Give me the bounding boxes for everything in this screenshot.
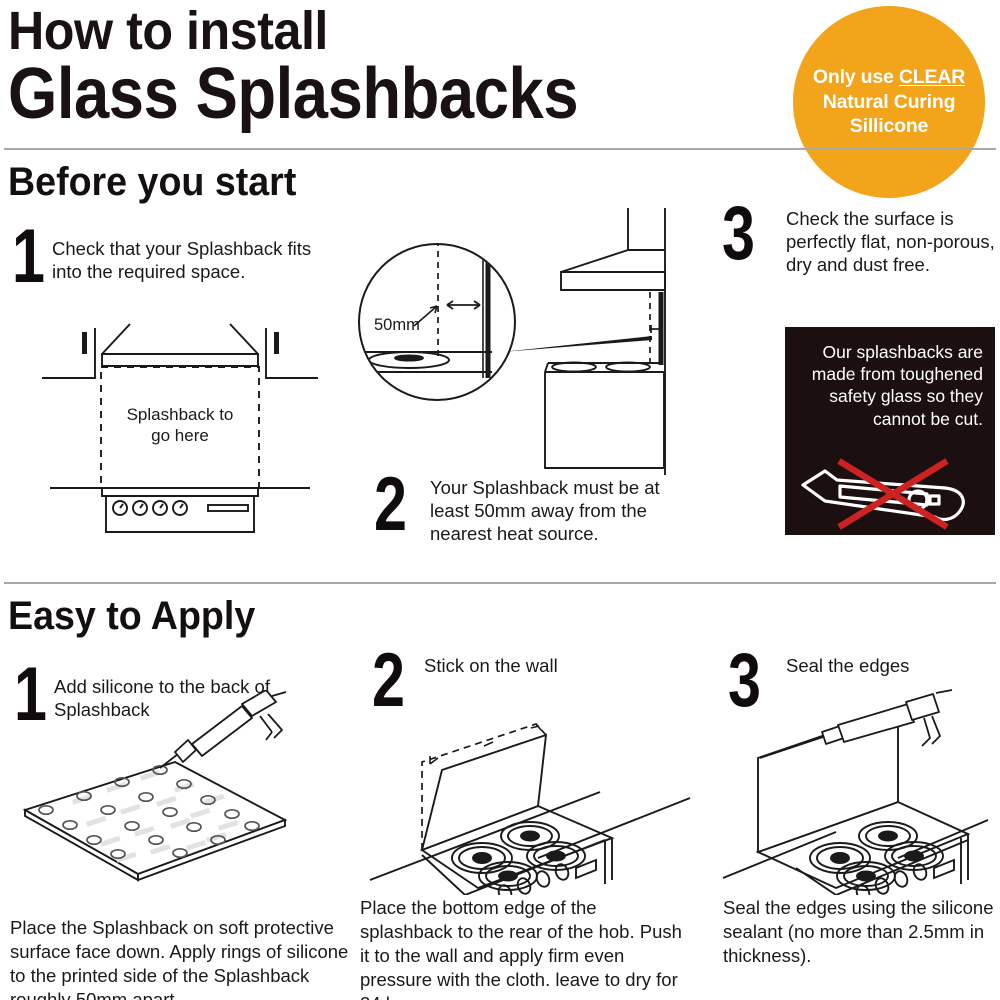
divider-top (4, 148, 996, 150)
step-number-before-2: 2 (374, 474, 407, 536)
badge-line-2: Natural Curing (823, 91, 956, 113)
diagram-50mm-clearance: 50mm (352, 200, 702, 475)
diagram-splashback-space: Splashback to go here (40, 320, 320, 550)
diagram-seal-the-edges (718, 680, 1000, 895)
caption-apply-2: Place the bottom edge of the splashback … (360, 896, 690, 1000)
diagram-stick-on-wall (360, 680, 700, 895)
section-heading-easy-to-apply: Easy to Apply (8, 596, 255, 636)
step-text-before-2: Your Splashback must be at least 50mm aw… (430, 477, 692, 546)
step-number-before-1: 1 (12, 226, 45, 288)
badge-line-1-emphasis: CLEAR (899, 66, 965, 88)
step-text-before-1: Check that your Splashback fits into the… (52, 238, 314, 284)
warning-box-text: Our splashbacks are made from toughened … (797, 341, 983, 430)
page-title-line-2: Glass Splashbacks (8, 58, 578, 130)
diagram-label-50mm: 50mm (374, 316, 420, 334)
warning-box-cannot-be-cut: Our splashbacks are made from toughened … (785, 327, 995, 535)
cutter-knife-icon (795, 455, 985, 533)
page-title-line-1: How to install (8, 4, 328, 58)
step-text-apply-2: Stick on the wall (424, 655, 684, 678)
step-text-apply-3: Seal the edges (786, 655, 1000, 678)
clear-silicone-badge: Only use CLEAR Natural Curing Sillicone (793, 6, 985, 198)
divider-middle (4, 582, 996, 584)
diagram-silicone-rings-on-glass (20, 690, 340, 890)
diagram-label-line-2: go here (151, 426, 209, 445)
step-text-before-3: Check the surface is perfectly flat, non… (786, 208, 996, 277)
badge-text: Only use CLEAR Natural Curing Sillicone (813, 65, 965, 140)
section-heading-before-you-start: Before you start (8, 162, 296, 202)
poster-root: How to install Glass Splashbacks Only us… (0, 0, 1000, 1000)
badge-line-3: Sillicone (850, 115, 928, 137)
diagram-label-line-1: Splashback to (127, 405, 234, 424)
caption-apply-1: Place the Splashback on soft protective … (10, 916, 360, 1000)
caption-apply-3: Seal the edges using the silicone sealan… (723, 896, 998, 968)
badge-line-1-prefix: Only use (813, 66, 899, 88)
step-number-before-3: 3 (722, 203, 755, 265)
